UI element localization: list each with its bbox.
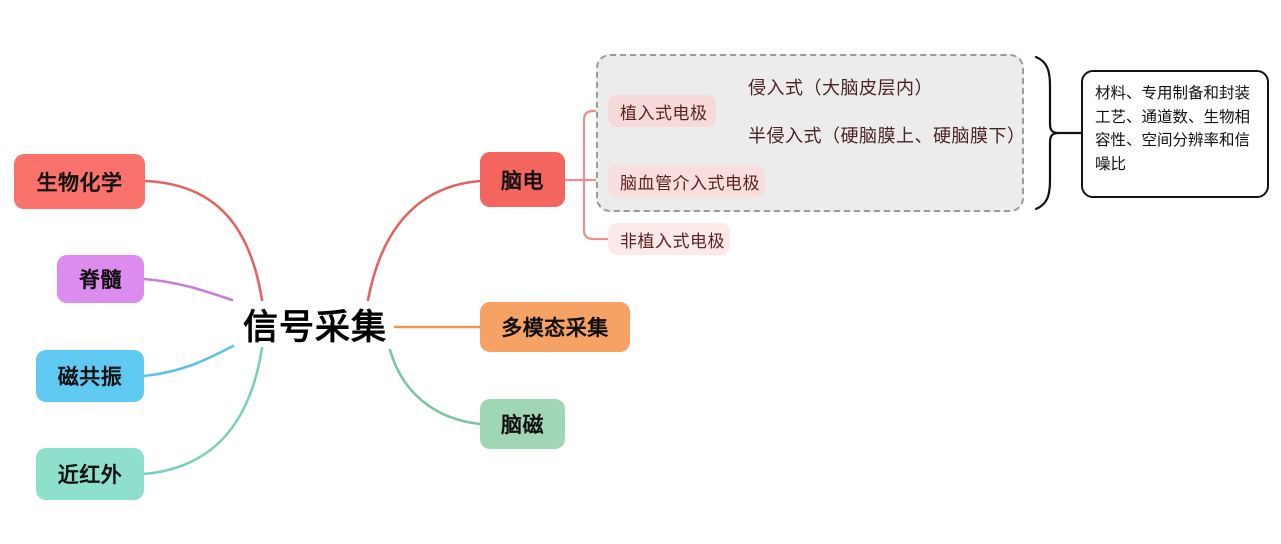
leaf-invasive[interactable]: 侵入式（大脑皮层内） xyxy=(748,73,948,101)
branch-node-eeg[interactable]: 脑电 xyxy=(480,152,565,207)
curly-brace xyxy=(1036,57,1059,209)
root-node[interactable]: 信号采集 xyxy=(239,302,391,346)
leaf-semi-invasive[interactable]: 半侵入式（硬脑膜上、硬脑膜下） xyxy=(748,121,1018,149)
branch-node-nirs[interactable]: 近红外 xyxy=(36,448,144,500)
branch-node-biochem[interactable]: 生物化学 xyxy=(14,154,145,209)
wire-nirs xyxy=(144,348,262,474)
wire-meg xyxy=(390,350,480,424)
branch-node-mri[interactable]: 磁共振 xyxy=(36,350,144,402)
branch-node-meg[interactable]: 脑磁 xyxy=(480,399,565,449)
wire-spinal xyxy=(144,279,232,300)
subnode-endovascular-electrode[interactable]: 脑血管介入式电极 xyxy=(608,165,765,197)
branch-node-spinal-cord[interactable]: 脊髓 xyxy=(57,255,144,303)
wire-eeg xyxy=(368,181,480,300)
subnode-non-implantable-electrode[interactable]: 非植入式电极 xyxy=(608,223,730,255)
wire-biochem xyxy=(145,181,262,300)
wire-mri xyxy=(144,346,233,376)
mindmap-canvas: 信号采集 生物化学 脊髓 磁共振 近红外 脑电 多模态采集 脑磁 植入式电极 脑… xyxy=(0,0,1281,544)
subnode-implantable-electrode[interactable]: 植入式电极 xyxy=(608,95,716,127)
summary-note[interactable]: 材料、专用制备和封装工艺、通道数、生物相容性、空间分辨率和信噪比 xyxy=(1081,70,1269,198)
branch-node-multimodal[interactable]: 多模态采集 xyxy=(480,302,630,352)
